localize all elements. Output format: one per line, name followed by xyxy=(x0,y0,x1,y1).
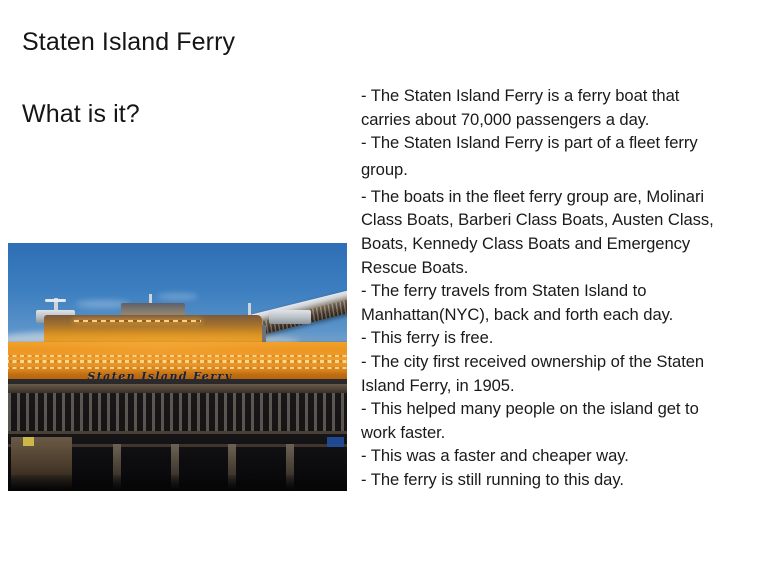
body-line: carries about 70,000 passengers a day. xyxy=(361,108,759,132)
window-light-row xyxy=(8,360,347,363)
window-light-row xyxy=(8,355,347,358)
window-light-row xyxy=(74,320,201,322)
slide-subtitle: What is it? xyxy=(22,100,140,129)
radar-antenna xyxy=(45,299,66,302)
body-line: - The Staten Island Ferry is part of a f… xyxy=(361,131,759,155)
body-line: - This helped many people on the island … xyxy=(361,397,759,421)
body-line: Class Boats, Barberi Class Boats, Austen… xyxy=(361,208,759,232)
pier-pilings xyxy=(8,393,347,431)
body-line: - The city first received ownership of t… xyxy=(361,350,759,374)
body-line: Manhattan(NYC), back and forth each day. xyxy=(361,303,759,327)
ferry-bridge xyxy=(269,310,311,324)
body-line: work faster. xyxy=(361,421,759,445)
body-line: - The ferry is still running to this day… xyxy=(361,468,759,492)
ferry-superstructure xyxy=(44,315,263,343)
body-text-block: - The Staten Island Ferry is a ferry boa… xyxy=(361,84,759,492)
body-line: - The Staten Island Ferry is a ferry boa… xyxy=(361,84,759,108)
dock-container xyxy=(327,437,344,447)
body-line: - The ferry travels from Staten Island t… xyxy=(361,279,759,303)
body-line: Boats, Kennedy Class Boats and Emergency xyxy=(361,232,759,256)
ferry-boat: Staten Island Ferry xyxy=(8,315,347,379)
pier-rail xyxy=(8,431,347,434)
body-line: group. xyxy=(361,155,759,185)
pier-structure xyxy=(8,379,347,491)
ferry-photograph: Staten Island Ferry xyxy=(8,243,347,491)
body-line: Island Ferry, in 1905. xyxy=(361,374,759,398)
window-light-row xyxy=(8,367,347,369)
dark-water xyxy=(8,475,347,491)
cloud xyxy=(157,293,198,300)
page-title: Staten Island Ferry xyxy=(22,28,235,57)
slide-canvas: Staten Island Ferry What is it? - The St… xyxy=(0,0,768,561)
photo-content: Staten Island Ferry xyxy=(8,243,347,491)
body-line: - This was a faster and cheaper way. xyxy=(361,444,759,468)
dock-sign xyxy=(23,437,34,446)
body-line: Rescue Boats. xyxy=(361,256,759,280)
body-line: - The boats in the fleet ferry group are… xyxy=(361,185,759,209)
ferry-hull: Staten Island Ferry xyxy=(8,342,347,379)
body-line: - This ferry is free. xyxy=(361,326,759,350)
